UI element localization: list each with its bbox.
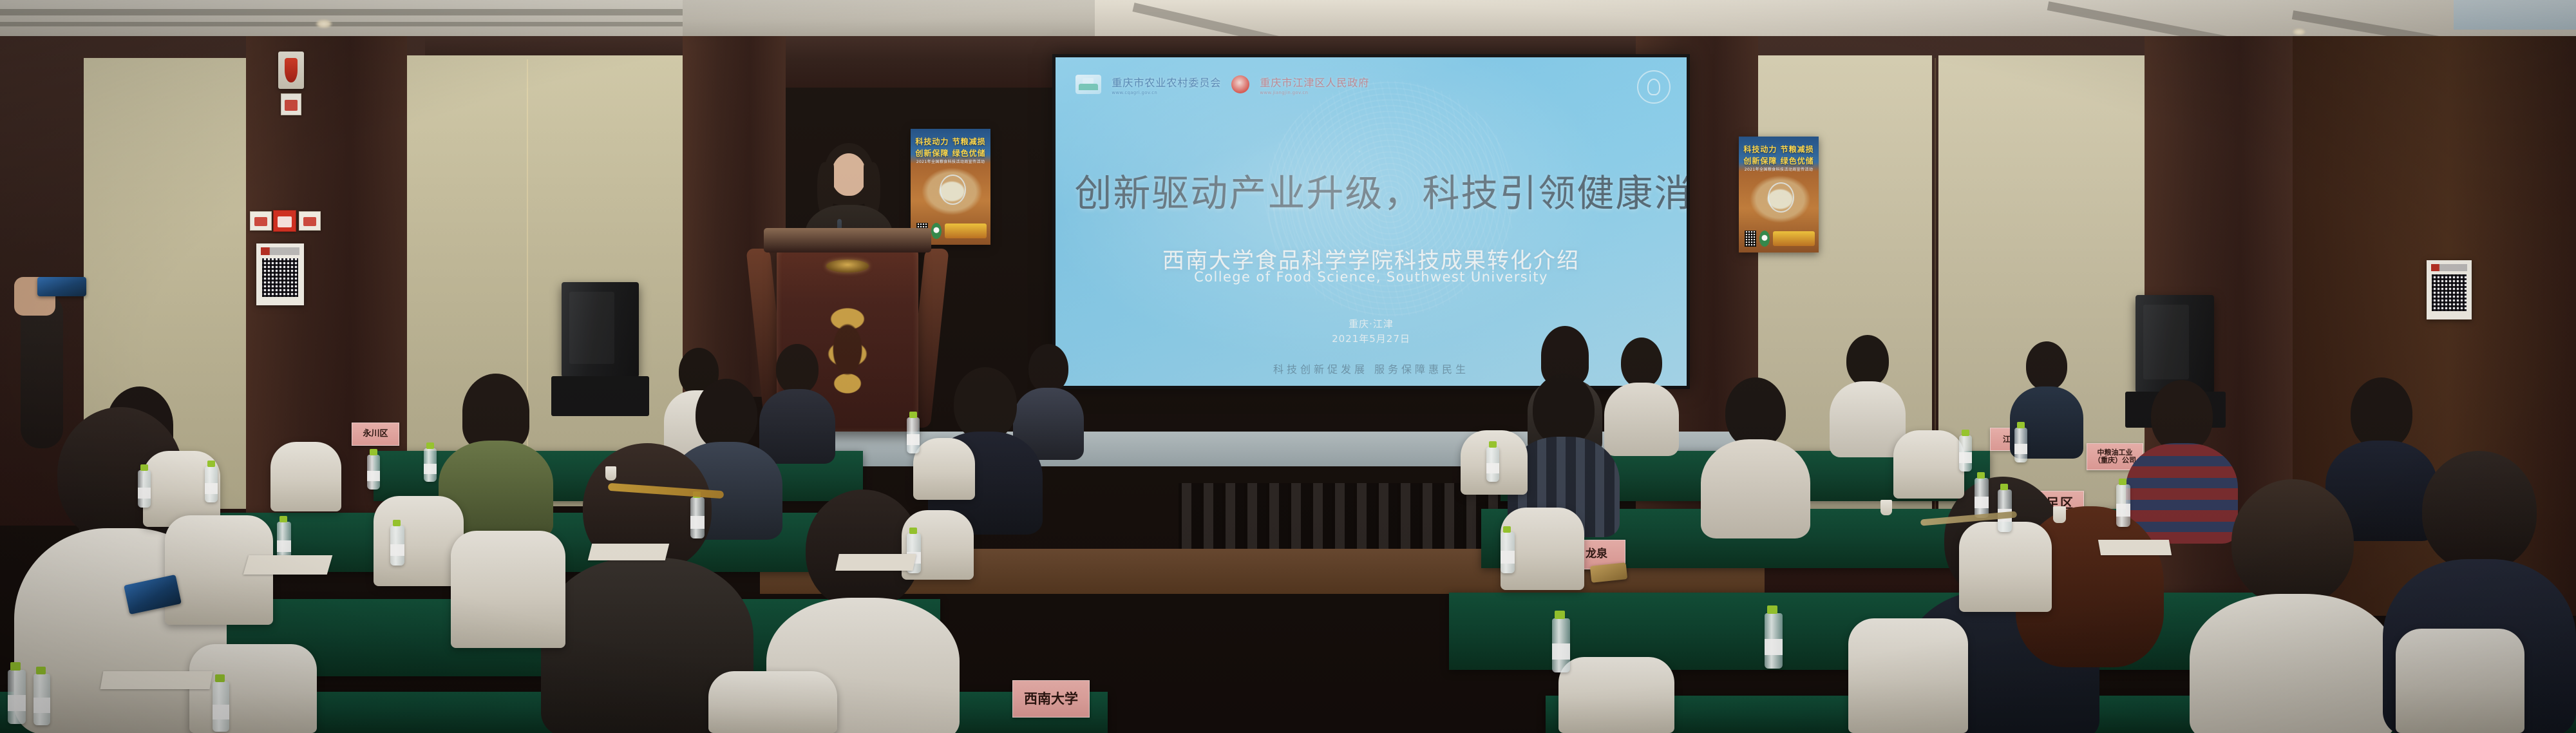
audience-m4-head [954, 367, 1017, 441]
name-card-7-line1: 永川区 [363, 430, 388, 439]
paper-cup-2 [1880, 500, 1892, 515]
telephone-icon [303, 217, 316, 227]
poster-left-artwork [915, 167, 985, 220]
slide-logo-right-name: 重庆市江津区人民政府 [1260, 77, 1369, 89]
slide-title: 创新驱动产业升级，科技引领健康消费 [1074, 174, 1667, 213]
water-bottle-22 [907, 417, 920, 453]
water-bottle-3 [367, 455, 380, 490]
poster-right-badge-icon [1759, 231, 1770, 247]
audience-b7-head [2026, 341, 2067, 390]
slide-logo-right-text: 重庆市江津区人民政府 www.jiangjin.gov.cn [1260, 74, 1369, 95]
audience-member-f8 [2190, 479, 2396, 733]
chair-2 [270, 442, 341, 511]
fire-hose-icon [278, 216, 292, 227]
ceiling-coffer-right [1095, 0, 2576, 40]
fire-phone-sign [299, 211, 321, 231]
audience-f9-head [2422, 451, 2537, 571]
university-emblem-icon [1637, 70, 1671, 104]
water-bottle-7 [690, 497, 705, 538]
chair-5 [451, 531, 565, 648]
water-bottle-17 [1501, 532, 1515, 573]
slide-logo-right-url: www.jiangjin.gov.cn [1260, 90, 1369, 95]
fire-alarm-box [278, 52, 304, 89]
qr-sign-header [261, 247, 299, 255]
water-bottle-8 [8, 670, 26, 724]
poster-right-line2: 创新保障 绿色优储 [1739, 155, 1819, 166]
poster-left-line3: 2021年全国粮食科技活动周宣传活动 [911, 158, 990, 164]
fire-alarm-label-sign [281, 93, 301, 115]
audience-m2-hair [462, 374, 529, 450]
water-bottle-18 [1765, 613, 1783, 669]
notepad-4 [100, 671, 213, 689]
chair-3 [374, 496, 464, 586]
pa-speaker-left [562, 282, 639, 377]
slide-subtitle-en: College of Food Science, Southwest Unive… [1056, 269, 1687, 285]
qr-code-icon [262, 258, 298, 297]
exit-person-icon [254, 217, 267, 227]
water-bottle-20 [1975, 478, 1989, 518]
qr-code-icon-right [2432, 274, 2466, 311]
slide-logo-left-name: 重庆市农业农村委员会 [1112, 77, 1221, 89]
ceiling-downlight-2 [2293, 28, 2306, 35]
conference-room-photo: 科技动力 节粮减损 创新保障 绿色优储 2021年全国粮食科技活动周宣传活动 科… [0, 0, 2576, 733]
water-bottle-14 [2014, 428, 2027, 462]
pa-speaker-left-base [551, 376, 649, 416]
chair-8 [913, 438, 975, 500]
name-card-7: 永川区 [352, 423, 399, 446]
water-bottle-15 [1998, 490, 2012, 532]
exit-sign-left [250, 211, 272, 231]
audience-member-m6 [1700, 377, 1811, 536]
poster-right-line3: 2021年全国粮食科技活动周宣传活动 [1739, 166, 1819, 172]
pa-speaker-right [2136, 295, 2214, 393]
poster-right: 科技动力 节粮减损 创新保障 绿色优储 2021年全国粮食科技活动周宣传活动 [1739, 137, 1819, 252]
qr-sign-header-right [2431, 264, 2467, 272]
ceiling-downlight-1 [316, 19, 332, 28]
water-bottle-4 [424, 448, 437, 482]
audience-b5-head [1621, 338, 1662, 388]
water-bottle-1 [138, 470, 151, 508]
audience-f8-torso [2190, 594, 2396, 733]
audience-m3-head [696, 379, 757, 451]
notepad-5 [2098, 540, 2172, 555]
poster-left-footer-banner [945, 224, 986, 238]
slide-logo-left-text: 重庆市农业农村委员会 www.cqagri.gov.cn [1112, 74, 1221, 95]
qr-code-sign-left [256, 243, 304, 305]
water-bottle-10 [213, 681, 229, 732]
water-bottle-9 [33, 674, 50, 725]
slide-logo-left-url: www.cqagri.gov.cn [1112, 90, 1221, 95]
audience-b6-head [1846, 335, 1889, 386]
fire-hose-sign [273, 210, 296, 232]
water-bottle-12 [1486, 447, 1499, 482]
paper-cup-1 [2053, 506, 2066, 523]
audience-b6-torso [1830, 381, 1906, 457]
name-card-6-line1: 龙泉 [1586, 549, 1607, 560]
water-bottle-19 [1552, 618, 1570, 672]
podium-desktop [764, 228, 931, 252]
poster-right-qr-icon [1745, 231, 1757, 247]
national-emblem-icon [1231, 75, 1249, 93]
chair-12 [1959, 522, 2052, 612]
water-bottle-16 [2116, 484, 2130, 527]
notepad-2 [588, 544, 669, 560]
notepad-3 [835, 554, 916, 571]
fire-alarm-icon [285, 100, 297, 111]
ceiling-slot-1 [0, 9, 683, 15]
paper-cup-3 [605, 466, 616, 481]
audience-m8-head [2351, 377, 2412, 450]
water-bottle-6 [390, 526, 404, 566]
water-bottle-2 [205, 466, 218, 502]
slide-logo-row: 重庆市农业农村委员会 www.cqagri.gov.cn 重庆市江津区人民政府 … [1075, 74, 1369, 95]
chair-13 [1848, 618, 1968, 733]
audience-m6-torso [1701, 439, 1810, 538]
audience-m6-head [1725, 377, 1786, 448]
water-bottle-13 [1959, 435, 1972, 471]
notepad-1 [243, 555, 333, 575]
ceiling-skylight [2454, 0, 2576, 30]
qr-code-sign-right [2427, 260, 2472, 319]
chair-7 [708, 671, 837, 733]
ceiling-coffer-left [0, 0, 683, 40]
chair-14 [2396, 629, 2524, 733]
name-card-3-line1: 西南大学 [1024, 692, 1078, 706]
poster-right-footer-banner [1773, 231, 1814, 246]
poster-right-artwork [1743, 175, 1814, 228]
audience-member-b6 [1829, 335, 1906, 456]
audience-m7-head [2151, 380, 2213, 452]
poster-left-badge-icon [931, 223, 942, 239]
poster-left-line1: 科技动力 节粮减损 [911, 136, 990, 147]
audience-f1-phone [37, 277, 86, 296]
poster-right-line1: 科技动力 节粮减损 [1739, 144, 1819, 155]
audience-m5-head [1533, 374, 1595, 446]
audience-f8-head [2231, 479, 2354, 605]
name-card-3: 西南大学 [1012, 680, 1090, 718]
government-logo-icon [1075, 75, 1101, 94]
presenter-head [831, 153, 866, 196]
poster-left-line2: 创新保障 绿色优储 [911, 148, 990, 158]
chair-15 [1558, 657, 1674, 733]
chair-10 [1893, 430, 1964, 499]
ceiling-slot-2 [0, 22, 683, 26]
